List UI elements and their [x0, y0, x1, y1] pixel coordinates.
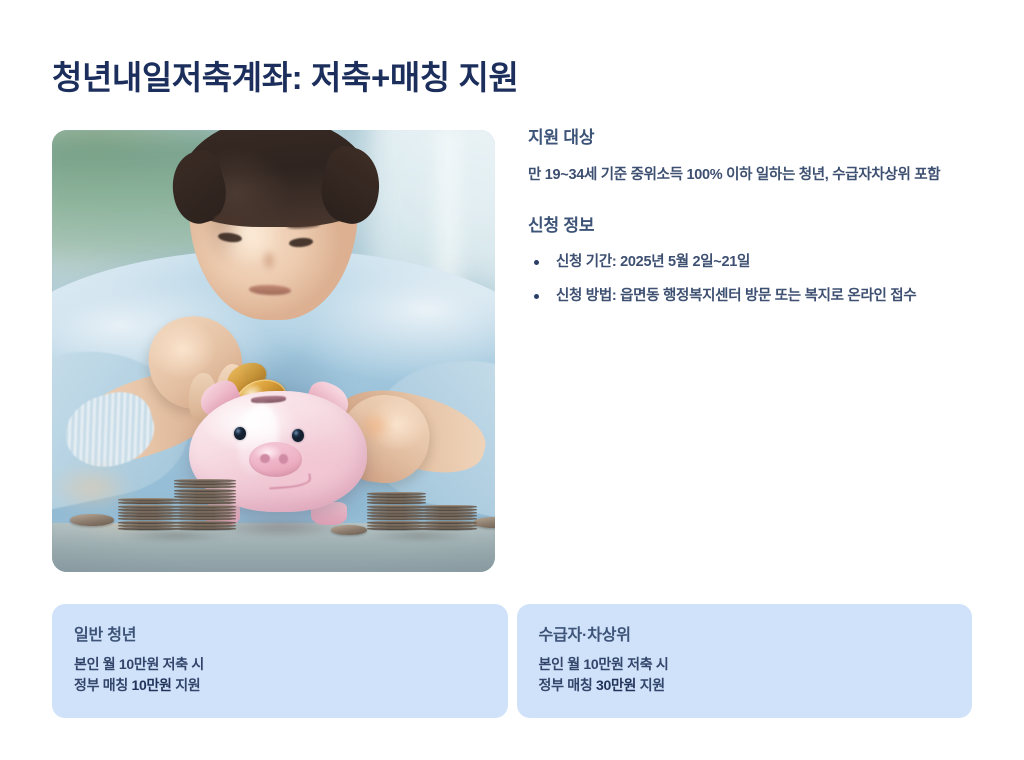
photo-illustration	[52, 130, 495, 572]
card-line-matching: 정부 매칭 10만원 지원	[74, 675, 486, 696]
application-heading: 신청 정보	[528, 214, 984, 238]
card-title: 수급자·차상위	[539, 625, 951, 647]
infographic-page: 청년내일저축계좌: 저축+매칭 지원	[0, 0, 1024, 760]
eligibility-heading: 지원 대상	[528, 126, 984, 150]
eligibility-text: 만 19~34세 기준 중위소득 100% 이하 일하는 청년, 수급자차상위 …	[528, 164, 984, 186]
application-bullet-list: 신청 기간: 2025년 5월 2일~21일 신청 방법: 읍면동 행정복지센터…	[528, 252, 984, 306]
benefit-card-general-youth: 일반 청년 본인 월 10만원 저축 시 정부 매칭 10만원 지원	[52, 604, 508, 718]
bullet-dot-icon	[534, 294, 539, 299]
card-line-matching: 정부 매칭 30만원 지원	[539, 675, 951, 696]
application-period-text: 신청 기간: 2025년 5월 2일~21일	[556, 254, 750, 270]
card-matching-prefix: 정부 매칭	[74, 677, 132, 693]
card-matching-prefix: 정부 매칭	[539, 677, 597, 693]
page-title: 청년내일저축계좌: 저축+매칭 지원	[52, 56, 952, 100]
card-matching-suffix: 지원	[172, 677, 201, 693]
list-item: 신청 방법: 읍면동 행정복지센터 방문 또는 복지로 온라인 접수	[528, 286, 984, 306]
photo-vignette	[52, 130, 495, 572]
card-matching-amount: 10만원	[132, 677, 172, 693]
piggy-bank-saving-photo	[52, 130, 495, 572]
benefit-cards: 일반 청년 본인 월 10만원 저축 시 정부 매칭 10만원 지원 수급자·차…	[52, 604, 972, 718]
card-title: 일반 청년	[74, 625, 486, 647]
card-line-savings: 본인 월 10만원 저축 시	[74, 654, 486, 675]
application-method-text: 신청 방법: 읍면동 행정복지센터 방문 또는 복지로 온라인 접수	[556, 288, 916, 304]
list-item: 신청 기간: 2025년 5월 2일~21일	[528, 252, 984, 272]
card-line-savings: 본인 월 10만원 저축 시	[539, 654, 951, 675]
details-column: 지원 대상 만 19~34세 기준 중위소득 100% 이하 일하는 청년, 수…	[528, 126, 984, 306]
bullet-dot-icon	[534, 260, 539, 265]
card-matching-suffix: 지원	[636, 677, 665, 693]
card-matching-amount: 30만원	[596, 677, 636, 693]
benefit-card-recipient-near-poor: 수급자·차상위 본인 월 10만원 저축 시 정부 매칭 30만원 지원	[517, 604, 973, 718]
